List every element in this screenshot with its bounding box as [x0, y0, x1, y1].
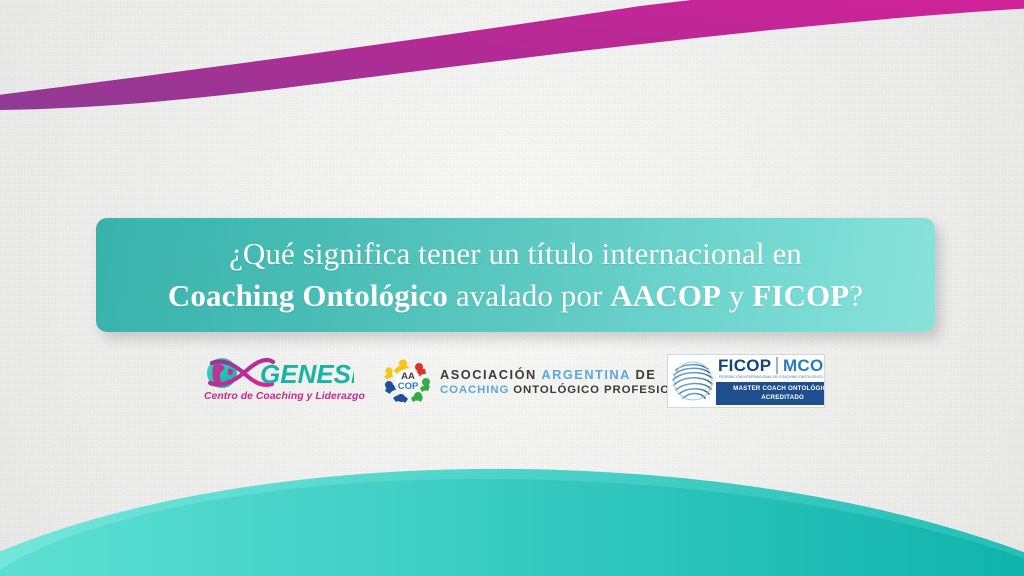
title-conjunction: y [721, 278, 752, 313]
ficop-expansion-text: FEDERACIÓN INTERNACIONAL DE COACHING ONT… [716, 375, 825, 379]
genesin-tagline: Centro de Coaching y Liderazgo [204, 391, 354, 402]
title-line-1: ¿Qué significa tener un título internaci… [229, 233, 802, 275]
title-line-2: Coaching Ontológico avalado por AACOP y … [168, 275, 863, 317]
title-bold-aacop: AACOP [610, 278, 721, 313]
title-bold-ficop: FICOP [752, 278, 849, 313]
bottom-teal-wave-front [0, 479, 1024, 576]
ficop-banner-line-1: MASTER COACH ONTOLÓGICO [719, 384, 825, 393]
logo-genesin: GENESIN Centro de Coaching y Liderazgo [199, 353, 354, 409]
ficop-banner-line-2: ACREDITADO [719, 393, 825, 402]
title-question-mark: ? [849, 278, 863, 313]
aacop-line-1: ASOCIACIÓN ARGENTINA DE [440, 367, 696, 382]
top-magenta-wave [0, 0, 1024, 110]
aacop-asociacion: ASOCIACIÓN [440, 367, 541, 382]
ficop-title-row: FICOP MCOA [716, 357, 825, 374]
ficop-accreditation-banner: MASTER COACH ONTOLÓGICO ACREDITADO [716, 382, 825, 405]
title-mid-text: avalado por [448, 278, 610, 313]
genesin-mark: GENESIN [202, 354, 354, 392]
title-bold-coaching: Coaching Ontológico [168, 278, 448, 313]
aacop-coaching: COACHING [440, 384, 509, 396]
slide-canvas: ¿Qué significa tener un título internaci… [0, 0, 1024, 576]
aacop-line-2: COACHING ONTOLÓGICO PROFESIONAL [440, 384, 696, 396]
genesin-wordmark: GENESIN [260, 359, 354, 389]
ficop-globe-icon [670, 358, 716, 404]
ficop-divider [776, 357, 778, 374]
aacop-argentina: ARGENTINA [541, 367, 630, 382]
logo-aacop: AA COP ASOCIACIÓN ARGENTINA DE COACHING … [384, 356, 637, 406]
logo-ficop: FICOP MCOA FEDERACIÓN INTERNACIONAL DE C… [667, 354, 825, 408]
ficop-text-block: FICOP MCOA FEDERACIÓN INTERNACIONAL DE C… [716, 355, 825, 407]
aacop-mark-line2: COP [398, 381, 419, 392]
partner-logos-row: GENESIN Centro de Coaching y Liderazgo [0, 352, 1024, 410]
mcoa-wordmark: MCOA [783, 357, 825, 374]
aacop-people-circle-icon: AA COP [384, 358, 432, 404]
aacop-wordmark: ASOCIACIÓN ARGENTINA DE COACHING ONTOLÓG… [440, 367, 696, 396]
bottom-teal-wave-back [0, 469, 1024, 576]
title-banner: ¿Qué significa tener un título internaci… [96, 218, 935, 332]
ficop-wordmark: FICOP [718, 357, 771, 374]
aacop-de: DE [630, 367, 656, 382]
